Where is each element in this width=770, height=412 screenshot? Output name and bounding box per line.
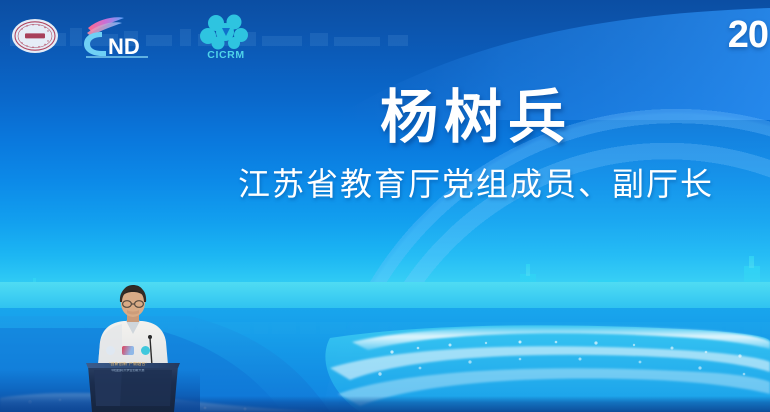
header-logo-bar: ND CICRM xyxy=(0,0,256,72)
podium-cnd-icon xyxy=(122,346,134,355)
speaker-photo: "创新创新·产教融合" 中国国际大学生创新大赛 xyxy=(74,280,192,412)
cicrm-logo: CICRM xyxy=(182,10,256,62)
podium-logos xyxy=(93,346,163,355)
podium-cicrm-icon xyxy=(141,346,150,355)
cnd-logo: ND xyxy=(78,14,164,58)
svg-text:ND: ND xyxy=(108,34,140,58)
university-seal-logo xyxy=(10,11,60,61)
slide-canvas: "创新创新·产教融合" 中国国际大学生创新大赛 xyxy=(0,0,770,412)
podium-seal-icon xyxy=(106,346,115,355)
svg-text:CICRM: CICRM xyxy=(207,49,244,61)
speaker-name: 杨树兵 xyxy=(196,86,756,149)
year-badge: 20 xyxy=(728,16,770,54)
title-block: 杨树兵 江苏省教育厅党组成员、副厅长 xyxy=(196,86,756,203)
podium-banner-subtext: 中国国际大学生创新大赛 xyxy=(88,369,168,373)
podium-banner-text: "创新创新·产教融合" xyxy=(88,362,168,367)
speaker-title: 江苏省教育厅党组成员、副厅长 xyxy=(196,165,756,203)
